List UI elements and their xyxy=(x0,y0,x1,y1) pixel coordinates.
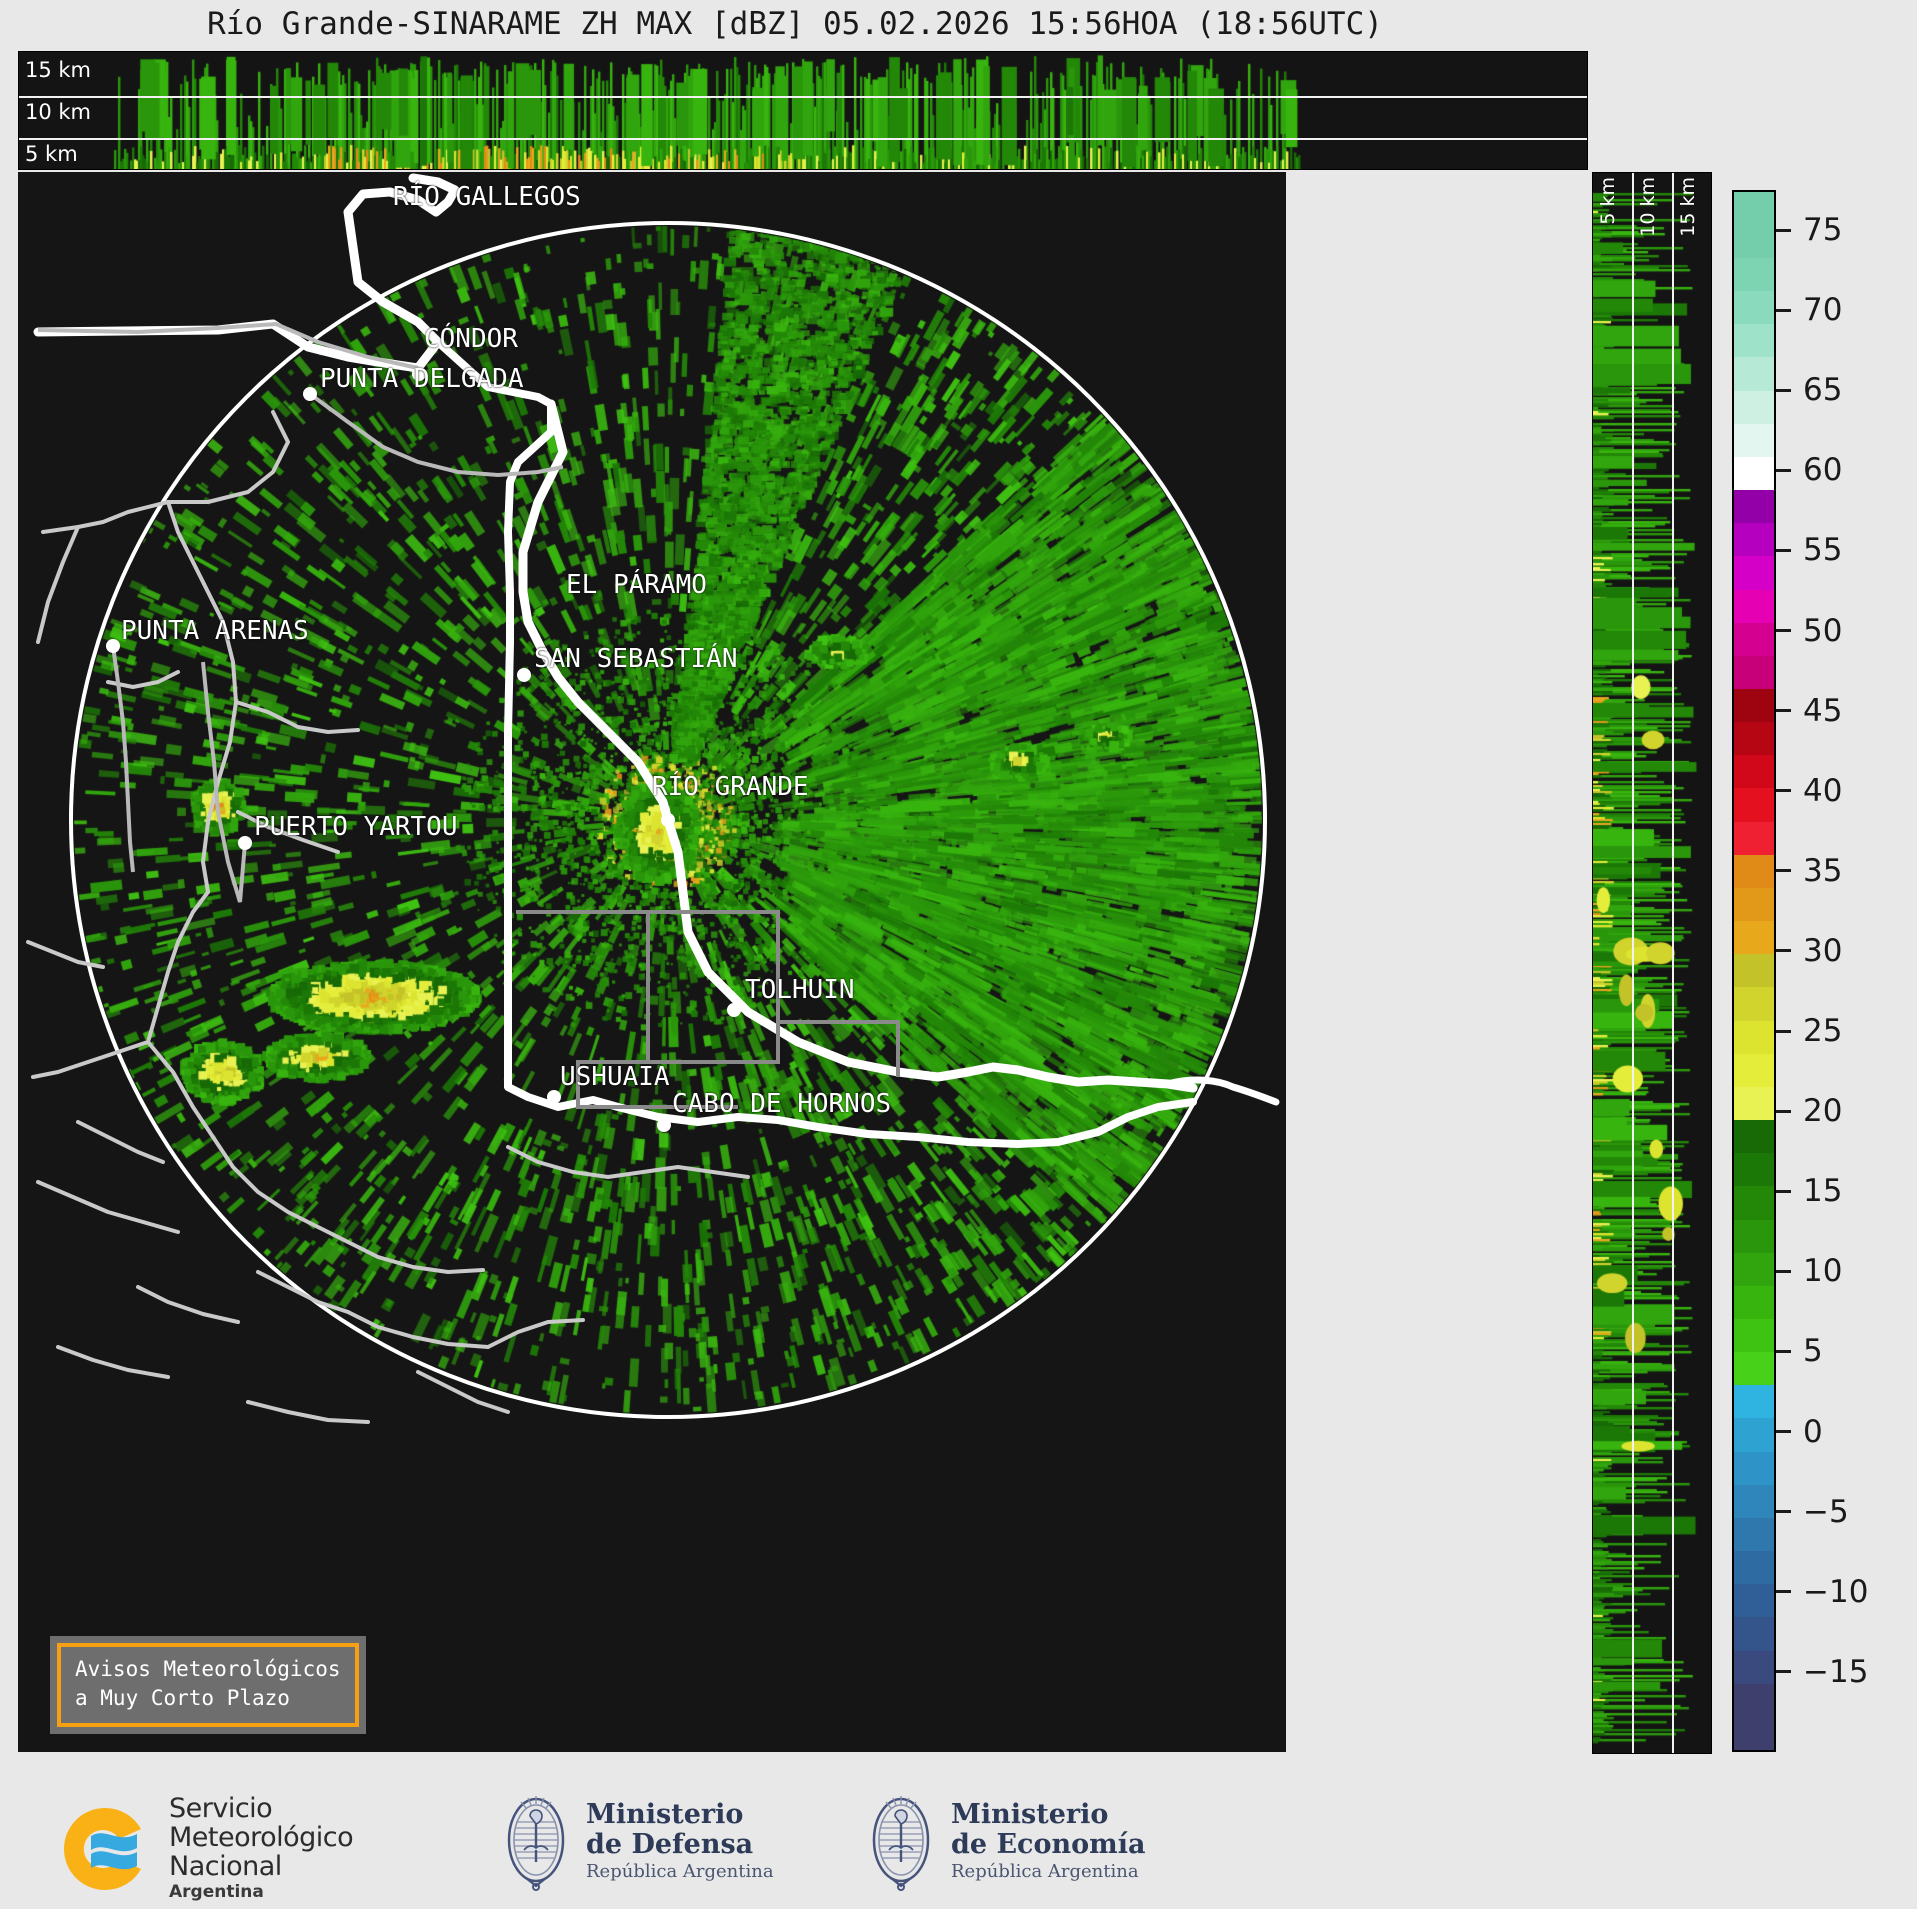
colorbar-swatch xyxy=(1734,490,1774,523)
colorbar-tick: 25 xyxy=(1776,1013,1842,1049)
colorbar-swatch xyxy=(1734,1286,1774,1319)
colorbar-swatch xyxy=(1734,457,1774,490)
colorbar-swatch xyxy=(1734,954,1774,987)
city-label: PUERTO YARTOU xyxy=(254,812,458,842)
colorbar-tick-dash xyxy=(1776,1510,1791,1513)
alt-label-10km: 10 km xyxy=(25,102,91,123)
border-argentina-chile xyxy=(438,342,551,1087)
colorbar-swatch xyxy=(1734,656,1774,689)
colorbar-swatch xyxy=(1734,1551,1774,1584)
colorbar-swatch xyxy=(1734,523,1774,556)
city-label: PUNTA ARENAS xyxy=(121,616,309,646)
warning-box-inner: Avisos Meteorológicos a Muy Corto Plazo xyxy=(57,1643,359,1727)
colorbar-tick-label: 35 xyxy=(1803,853,1842,889)
smn-line-4: Argentina xyxy=(169,1881,353,1903)
colorbar-tick-label: 65 xyxy=(1803,372,1842,408)
colorbar-tick-dash xyxy=(1776,1350,1791,1353)
colorbar-tick-dash xyxy=(1776,309,1791,312)
city-label: TOLHUIN xyxy=(745,975,855,1005)
top-cross-section-panel: 15 km 10 km 5 km xyxy=(18,51,1588,170)
economia-line-3: República Argentina xyxy=(951,1860,1145,1884)
warning-line-1: Avisos Meteorológicos xyxy=(75,1655,341,1684)
colorbar-swatch xyxy=(1734,291,1774,324)
colorbar-tick: 20 xyxy=(1776,1093,1842,1129)
colorbar-swatch xyxy=(1734,722,1774,755)
colorbar-swatch xyxy=(1734,1584,1774,1617)
colorbar-tick-label: 50 xyxy=(1803,613,1842,649)
colorbar-tick: −10 xyxy=(1776,1574,1868,1610)
smn-line-1: Servicio xyxy=(169,1794,353,1823)
colorbar-swatch xyxy=(1734,1651,1774,1684)
colorbar-swatch xyxy=(1734,755,1774,788)
colorbar-swatch xyxy=(1734,888,1774,921)
valt-label-5km: 5 km xyxy=(1597,177,1619,225)
colorbar-tick: 10 xyxy=(1776,1253,1842,1289)
colorbar-swatch xyxy=(1734,921,1774,954)
logo-ministerio-de-economia[interactable]: Ministerio de Economía República Argenti… xyxy=(865,1790,1145,1894)
radar-site-marker xyxy=(661,813,675,827)
colorbar-tick-dash xyxy=(1776,389,1791,392)
colorbar-tick-label: 70 xyxy=(1803,292,1842,328)
colorbar-tick-dash xyxy=(1776,949,1791,952)
city-label: RÍO GRANDE xyxy=(652,772,809,802)
colorbar-tick-label: 0 xyxy=(1803,1414,1823,1450)
colorbar-swatch xyxy=(1734,225,1774,258)
colorbar-tick-dash xyxy=(1776,1590,1791,1593)
colorbar-swatch xyxy=(1734,822,1774,855)
alt-label-15km: 15 km xyxy=(25,60,91,81)
colorbar-swatch xyxy=(1734,1153,1774,1186)
warning-line-2: a Muy Corto Plazo xyxy=(75,1684,341,1713)
colorbar-tick: 0 xyxy=(1776,1414,1823,1450)
valt-label-10km: 10 km xyxy=(1637,177,1659,237)
colorbar-tick-dash xyxy=(1776,709,1791,712)
colorbar-tick-label: 60 xyxy=(1803,452,1842,488)
colorbar-swatch xyxy=(1734,987,1774,1020)
colorbar-swatch xyxy=(1734,1186,1774,1219)
city-marker-dot xyxy=(657,1118,671,1132)
colorbar-tick-label: 15 xyxy=(1803,1173,1842,1209)
city-label: PUNTA DELGADA xyxy=(320,364,524,394)
colorbar-tick: 50 xyxy=(1776,613,1842,649)
coastline-chile-fjords xyxy=(28,412,748,1422)
right-cross-section-panel: 5 km 10 km 15 km xyxy=(1592,172,1712,1754)
colorbar-tick: 40 xyxy=(1776,773,1842,809)
colorbar-tick-label: −5 xyxy=(1803,1494,1849,1530)
colorbar-tick: 45 xyxy=(1776,693,1842,729)
city-marker-dot xyxy=(238,836,252,850)
smn-emblem-icon xyxy=(55,1803,155,1895)
colorbar-swatch xyxy=(1734,1485,1774,1518)
argentina-coat-of-arms-icon-2 xyxy=(865,1790,937,1894)
colorbar-tick-dash xyxy=(1776,1110,1791,1113)
city-label: SAN SEBASTIÁN xyxy=(534,644,738,674)
colorbar-swatch xyxy=(1734,1452,1774,1485)
colorbar-swatch xyxy=(1734,258,1774,291)
colorbar-tick: 60 xyxy=(1776,452,1842,488)
colorbar-tick-label: 40 xyxy=(1803,773,1842,809)
economia-line-2: de Economía xyxy=(951,1830,1145,1860)
colorbar-ticks: 757065605550454035302520151050−5−10−15 xyxy=(1776,190,1906,1752)
colorbar xyxy=(1732,190,1776,1752)
colorbar-tick-label: 25 xyxy=(1803,1013,1842,1049)
city-marker-dot xyxy=(727,1003,741,1017)
city-marker-dot xyxy=(547,1090,561,1104)
colorbar-tick: 30 xyxy=(1776,933,1842,969)
colorbar-tick-dash xyxy=(1776,1030,1791,1033)
vgridline-10km xyxy=(1632,173,1634,1753)
colorbar-swatch xyxy=(1734,192,1774,225)
colorbar-tick-dash xyxy=(1776,1430,1791,1433)
city-label: USHUAIA xyxy=(560,1062,670,1092)
colorbar-swatch xyxy=(1734,1021,1774,1054)
colorbar-tick-label: 10 xyxy=(1803,1253,1842,1289)
city-marker-dot xyxy=(517,668,531,682)
right-cross-section-echo-canvas xyxy=(1593,173,1711,1753)
radar-product-page: Río Grande-SINARAME ZH MAX [dBZ] 05.02.2… xyxy=(0,0,1917,1909)
colorbar-tick: 70 xyxy=(1776,292,1842,328)
coastline-tierra-del-fuego-atlantic xyxy=(523,404,1193,1088)
argentina-coat-of-arms-icon xyxy=(500,1790,572,1894)
colorbar-tick-label: 30 xyxy=(1803,933,1842,969)
smn-line-2: Meteorológico xyxy=(169,1823,353,1852)
city-label: RÍO GALLEGOS xyxy=(393,182,581,212)
colorbar-swatch xyxy=(1734,357,1774,390)
colorbar-tick: 5 xyxy=(1776,1333,1823,1369)
colorbar-swatch xyxy=(1734,1352,1774,1385)
colorbar-swatch xyxy=(1734,788,1774,821)
colorbar-swatches xyxy=(1734,192,1774,1750)
colorbar-swatch xyxy=(1734,1319,1774,1352)
colorbar-swatch xyxy=(1734,1385,1774,1418)
defensa-line-3: República Argentina xyxy=(586,1860,774,1884)
radar-ppi-map[interactable]: RÍO GALLEGOSCÓNDORPUNTA DELGADAEL PÁRAMO… xyxy=(18,172,1286,1752)
colorbar-swatch xyxy=(1734,556,1774,589)
logo-ministerio-de-defensa[interactable]: Ministerio de Defensa República Argentin… xyxy=(500,1790,774,1894)
colorbar-tick-dash xyxy=(1776,629,1791,632)
colorbar-tick-dash xyxy=(1776,469,1791,472)
coastline-overlay xyxy=(18,172,1286,1752)
colorbar-tick-dash xyxy=(1776,549,1791,552)
colorbar-swatch xyxy=(1734,1120,1774,1153)
city-marker-dot xyxy=(106,639,120,653)
colorbar-swatch xyxy=(1734,391,1774,424)
colorbar-tick-dash xyxy=(1776,1190,1791,1193)
colorbar-tick-dash xyxy=(1776,1270,1791,1273)
colorbar-swatch xyxy=(1734,1684,1774,1717)
alt-label-5km: 5 km xyxy=(25,144,78,165)
colorbar-tick-label: 5 xyxy=(1803,1333,1823,1369)
colorbar-tick-dash xyxy=(1776,869,1791,872)
colorbar-swatch xyxy=(1734,1617,1774,1650)
colorbar-tick-label: 45 xyxy=(1803,693,1842,729)
economia-line-1: Ministerio xyxy=(951,1800,1145,1830)
city-label: EL PÁRAMO xyxy=(566,570,707,600)
colorbar-tick-label: 75 xyxy=(1803,212,1842,248)
colorbar-tick: 15 xyxy=(1776,1173,1842,1209)
colorbar-swatch xyxy=(1734,424,1774,457)
city-label: CABO DE HORNOS xyxy=(672,1089,891,1119)
gridline-5km xyxy=(19,138,1587,140)
gridline-10km xyxy=(19,96,1587,98)
footer: Servicio Meteorológico Nacional Argentin… xyxy=(0,1772,1917,1909)
city-marker-dot xyxy=(303,387,317,401)
colorbar-tick-label: −15 xyxy=(1803,1654,1868,1690)
colorbar-tick-dash xyxy=(1776,229,1791,232)
page-title: Río Grande-SINARAME ZH MAX [dBZ] 05.02.2… xyxy=(0,6,1590,42)
colorbar-tick-label: −10 xyxy=(1803,1574,1868,1610)
colorbar-tick-dash xyxy=(1776,1670,1791,1673)
colorbar-swatch xyxy=(1734,1418,1774,1451)
colorbar-tick: 35 xyxy=(1776,853,1842,889)
colorbar-tick: 75 xyxy=(1776,212,1842,248)
colorbar-swatch xyxy=(1734,689,1774,722)
smn-text: Servicio Meteorológico Nacional Argentin… xyxy=(169,1794,353,1903)
colorbar-swatch xyxy=(1734,1253,1774,1286)
colorbar-swatch xyxy=(1734,324,1774,357)
ministerio-economia-text: Ministerio de Economía República Argenti… xyxy=(951,1800,1145,1884)
colorbar-tick-dash xyxy=(1776,789,1791,792)
colorbar-swatch xyxy=(1734,590,1774,623)
colorbar-swatch xyxy=(1734,1518,1774,1551)
colorbar-tick: −5 xyxy=(1776,1494,1849,1530)
colorbar-tick: −15 xyxy=(1776,1654,1868,1690)
colorbar-swatch xyxy=(1734,855,1774,888)
colorbar-swatch xyxy=(1734,1054,1774,1087)
colorbar-swatch xyxy=(1734,623,1774,656)
logo-servicio-meteorologico-nacional[interactable]: Servicio Meteorológico Nacional Argentin… xyxy=(55,1794,353,1903)
defensa-line-1: Ministerio xyxy=(586,1800,774,1830)
defensa-line-2: de Defensa xyxy=(586,1830,774,1860)
colorbar-tick: 65 xyxy=(1776,372,1842,408)
colorbar-swatch xyxy=(1734,1717,1774,1750)
city-label: CÓNDOR xyxy=(424,324,518,354)
valt-label-15km: 15 km xyxy=(1677,177,1699,237)
top-cross-section-echo-canvas xyxy=(19,52,1587,169)
ministerio-defensa-text: Ministerio de Defensa República Argentin… xyxy=(586,1800,774,1884)
colorbar-tick-label: 55 xyxy=(1803,532,1842,568)
colorbar-tick-label: 20 xyxy=(1803,1093,1842,1129)
colorbar-tick: 55 xyxy=(1776,532,1842,568)
warning-box[interactable]: Avisos Meteorológicos a Muy Corto Plazo xyxy=(50,1636,366,1734)
smn-line-3: Nacional xyxy=(169,1852,353,1881)
colorbar-swatch xyxy=(1734,1220,1774,1253)
colorbar-swatch xyxy=(1734,1087,1774,1120)
vgridline-15km xyxy=(1672,173,1674,1753)
